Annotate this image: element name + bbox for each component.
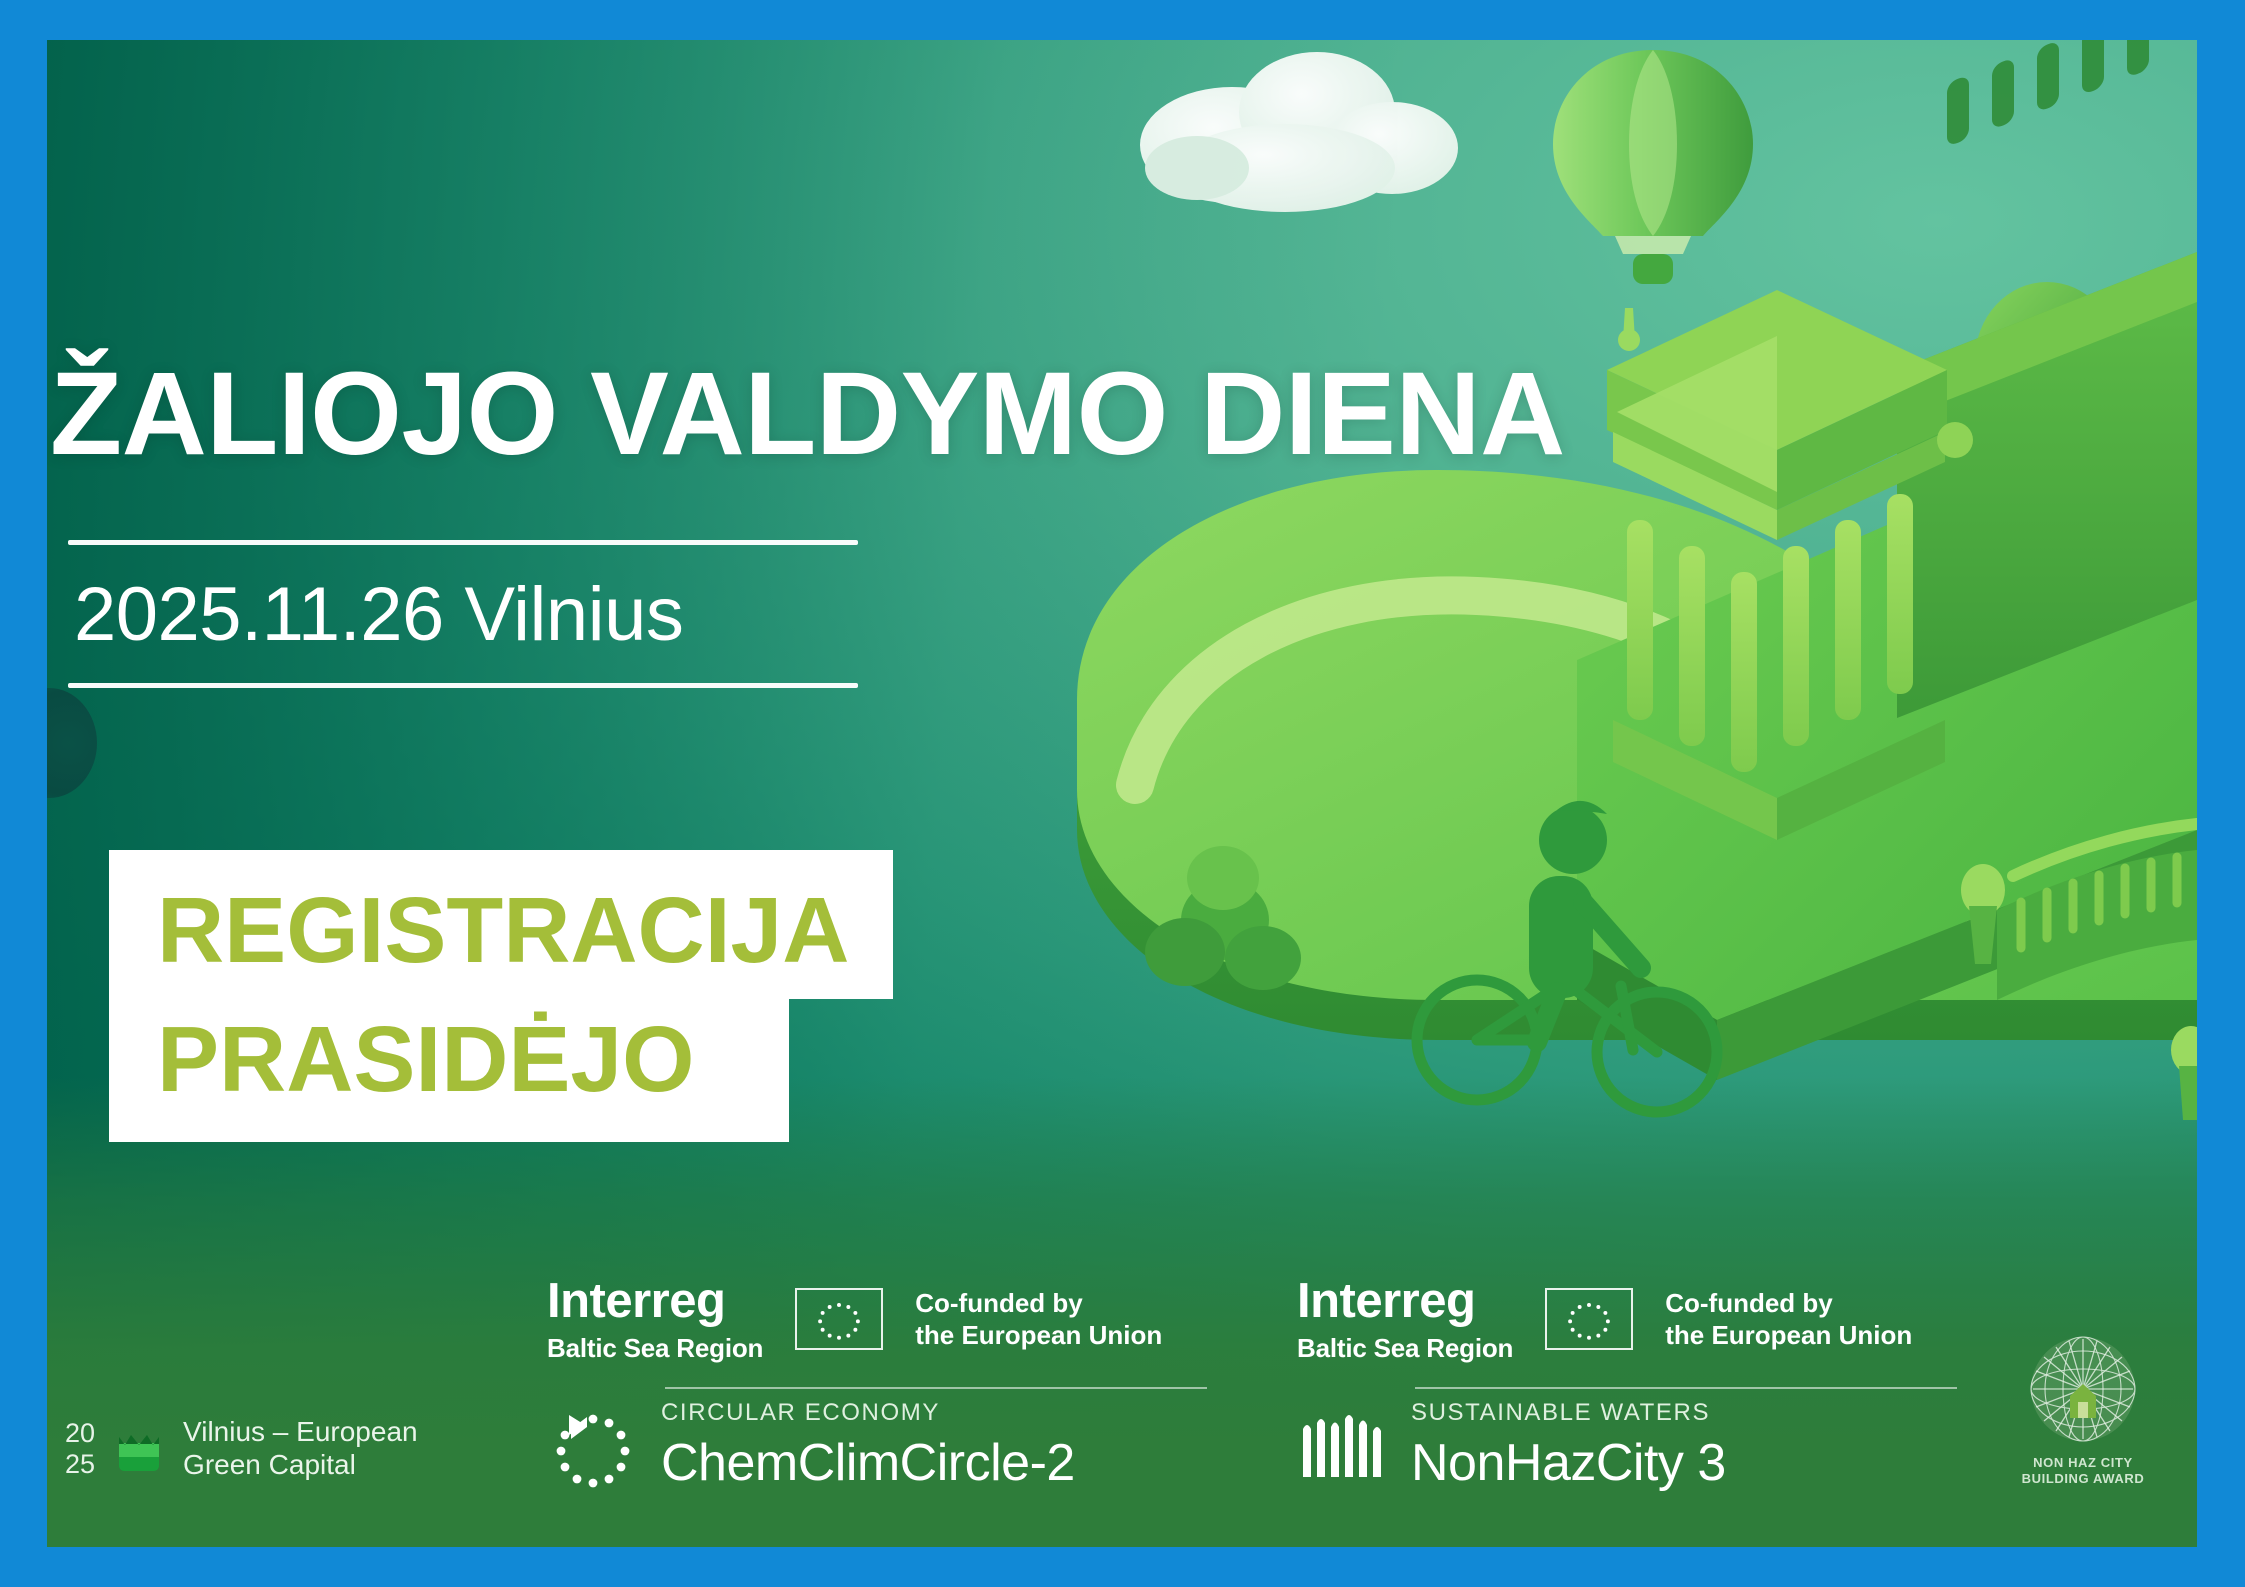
event-date: 2025.11.26 Vilnius: [68, 545, 858, 683]
interreg-word: Interreg: [1297, 1277, 1513, 1326]
eu-flag-icon: [795, 1288, 883, 1350]
project-divider: [1415, 1387, 1957, 1389]
project-kicker: CIRCULAR ECONOMY: [661, 1401, 1075, 1425]
project-name: ChemClimCircle-2: [661, 1437, 1075, 1489]
interreg-subtitle: Baltic Sea Region: [547, 1335, 763, 1361]
project-divider: [665, 1387, 1207, 1389]
rule-bottom: [68, 683, 858, 688]
award-label-line-2: BUILDING AWARD: [2017, 1471, 2149, 1487]
eu-cofunded-line-1: Co-funded by: [915, 1287, 1162, 1319]
eu-cofunded-label: Co-funded by the European Union: [915, 1287, 1162, 1351]
poster-frame: ŽALIOJO VALDYMO DIENA 2025.11.26 Vilnius…: [0, 0, 2245, 1587]
interreg-wordmark: Interreg Baltic Sea Region: [547, 1277, 763, 1361]
event-date-block: 2025.11.26 Vilnius: [68, 540, 858, 688]
project-text: CIRCULAR ECONOMY ChemClimCircle-2: [661, 1401, 1075, 1489]
page-title: ŽALIOJO VALDYMO DIENA: [50, 355, 1770, 473]
eu-cofunded-label: Co-funded by the European Union: [1665, 1287, 1912, 1351]
eu-cofunded-line-1: Co-funded by: [1665, 1287, 1912, 1319]
circular-arrow-icon: [547, 1407, 639, 1499]
project-lockup: CIRCULAR ECONOMY ChemClimCircle-2: [547, 1387, 1207, 1499]
eu-cofunded-line-2: the European Union: [1665, 1319, 1912, 1351]
water-bars-icon: [1297, 1407, 1389, 1499]
registration-callout-line-1: REGISTRACIJA: [109, 850, 893, 999]
interreg-lockup: Interreg Baltic Sea Region: [547, 1277, 1207, 1361]
vilnius-year: 20 25: [65, 1418, 95, 1478]
green-capital-crown-icon: [111, 1421, 167, 1477]
award-label-line-1: NON HAZ CITY: [2017, 1455, 2149, 1471]
registration-callout-line-2: PRASIDĖJO: [109, 999, 789, 1142]
interreg-subtitle: Baltic Sea Region: [1297, 1335, 1513, 1361]
interreg-wordmark: Interreg Baltic Sea Region: [1297, 1277, 1513, 1361]
vilnius-label-line-2: Green Capital: [183, 1449, 418, 1481]
project-logo-chemclimcircle: Interreg Baltic Sea Region: [547, 1277, 1207, 1499]
project-name: NonHazCity 3: [1411, 1437, 1726, 1489]
project-kicker: SUSTAINABLE WATERS: [1411, 1401, 1726, 1425]
vilnius-green-capital-label: Vilnius – European Green Capital: [183, 1416, 418, 1481]
award-disc-icon: [2028, 1334, 2138, 1444]
footer-logo-strip: 20 25 Vilnius – European Green Capital: [47, 1279, 2197, 1529]
vilnius-label-line-1: Vilnius – European: [183, 1416, 418, 1448]
nonhazcity-building-award-badge: NON HAZ CITY BUILDING AWARD: [2017, 1334, 2149, 1488]
vilnius-year-top: 20: [65, 1418, 95, 1448]
project-lockup: SUSTAINABLE WATERS NonHazCity 3: [1297, 1387, 1957, 1499]
eu-cofunded-line-2: the European Union: [915, 1319, 1162, 1351]
interreg-lockup: Interreg Baltic Sea Region: [1297, 1277, 1957, 1361]
interreg-word: Interreg: [547, 1277, 763, 1326]
vilnius-year-bottom: 25: [65, 1449, 95, 1479]
vilnius-green-capital-logo: 20 25 Vilnius – European Green Capital: [65, 1416, 418, 1481]
eu-flag-icon: [1545, 1288, 1633, 1350]
project-logo-nonhazcity: Interreg Baltic Sea Region: [1297, 1277, 1957, 1499]
project-text: SUSTAINABLE WATERS NonHazCity 3: [1411, 1401, 1726, 1489]
event-banner: ŽALIOJO VALDYMO DIENA 2025.11.26 Vilnius…: [47, 40, 2197, 1547]
registration-callout[interactable]: REGISTRACIJA PRASIDĖJO: [109, 850, 893, 1142]
rule-top: [68, 540, 858, 545]
